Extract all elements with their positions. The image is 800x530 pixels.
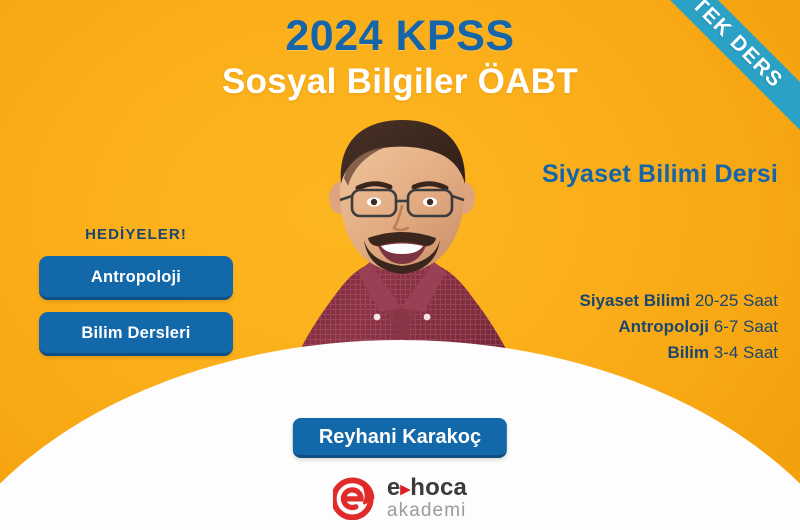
gifts-label: HEDİYELER! [39,226,233,243]
hours-subject: Siyaset Bilimi [580,291,691,310]
brand-logo[interactable]: e▸hoca akademi [333,476,467,520]
logo-brand-line: e▸hoca [387,476,467,500]
gift-item-antropoloji[interactable]: Antropoloji [39,256,233,300]
hours-amount: 6-7 Saat [714,317,778,336]
e-hoca-logo-icon [333,476,377,520]
hours-row: Bilim 3-4 Saat [580,340,778,366]
logo-brand-pre: e [387,474,401,501]
ribbon-label: TEK DERS [645,0,800,136]
course-promo-banner: TEK DERS 2024 KPSS Sosyal Bilgiler ÖABT [0,0,800,530]
hours-list: Siyaset Bilimi 20-25 Saat Antropoloji 6-… [580,288,778,365]
hours-amount: 20-25 Saat [695,291,778,310]
hours-amount: 3-4 Saat [714,343,778,362]
hours-row: Antropoloji 6-7 Saat [580,314,778,340]
logo-sub-line: akademi [387,501,467,520]
hours-subject: Bilim [667,343,709,362]
logo-brand-post: hoca [410,474,467,501]
lesson-title: Siyaset Bilimi Dersi [542,160,778,189]
hours-subject: Antropoloji [618,317,709,336]
gifts-section: HEDİYELER! Antropoloji Bilim Dersleri [39,226,233,368]
hours-row: Siyaset Bilimi 20-25 Saat [580,288,778,314]
gift-item-bilim-dersleri[interactable]: Bilim Dersleri [39,312,233,356]
presenter-name-badge[interactable]: Reyhani Karakoç [293,418,507,458]
logo-dot-icon: ▸ [400,479,410,500]
corner-ribbon: TEK DERS [645,0,800,155]
logo-wordmark: e▸hoca akademi [387,476,467,520]
